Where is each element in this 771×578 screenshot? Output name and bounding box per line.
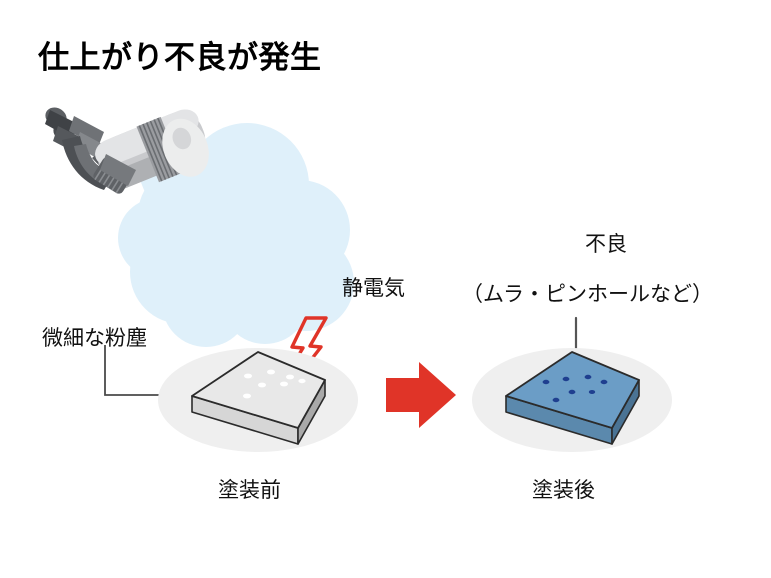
page-title: 仕上がり不良が発生 — [38, 32, 322, 77]
label-fine-dust: 微細な粉塵 — [42, 322, 147, 352]
caption-after-painting: 塗装後 — [532, 474, 595, 504]
metal-panel-before-icon — [158, 348, 358, 452]
label-defect-detail: （ムラ・ピンホールなど） — [462, 278, 713, 308]
right-arrow-icon[interactable] — [386, 362, 456, 428]
label-defect-title: 不良 — [585, 228, 627, 258]
label-static-electricity: 静電気 — [342, 272, 405, 302]
caption-before-painting: 塗装前 — [218, 474, 281, 504]
painted-panel-after-icon — [472, 348, 672, 452]
slide-canvas: 仕上がり不良が発生 微細な粉塵 静電気 不良 （ムラ・ピンホールなど） 塗装前 … — [0, 0, 771, 578]
